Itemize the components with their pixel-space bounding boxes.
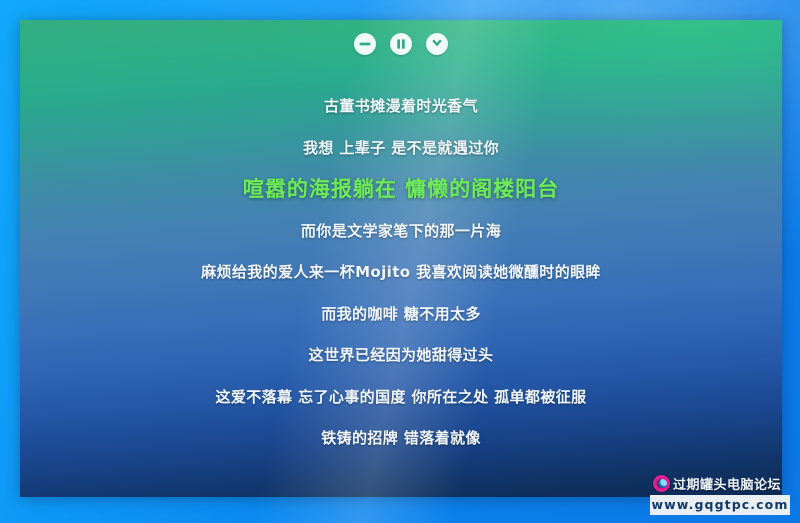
watermark-title-row: 过期罐头电脑论坛 — [650, 472, 790, 495]
lyrics-control-bar — [20, 33, 782, 55]
watermark-url: www.gqgtpc.com — [650, 495, 790, 515]
pause-icon — [390, 33, 412, 55]
lyric-line-active[interactable]: 喧嚣的海报躺在 慵懒的阁楼阳台 — [20, 169, 782, 211]
watermark: 过期罐头电脑论坛 www.gqgtpc.com — [650, 472, 790, 515]
minus-circle-icon — [354, 33, 376, 55]
pause-button[interactable] — [390, 33, 412, 55]
lyric-line[interactable]: 而你是文学家笔下的那一片海 — [20, 211, 782, 253]
desktop-lyrics-window[interactable]: 古董书摊漫着时光香气 我想 上辈子 是不是就遇过你 喧嚣的海报躺在 慵懒的阁楼阳… — [20, 20, 782, 497]
lyric-line[interactable]: 我想 上辈子 是不是就遇过你 — [20, 128, 782, 170]
collapse-button[interactable] — [426, 33, 448, 55]
desktop-screen: 古董书摊漫着时光香气 我想 上辈子 是不是就遇过你 喧嚣的海报躺在 慵懒的阁楼阳… — [0, 0, 800, 523]
lyric-line[interactable]: 铁铸的招牌 错落着就像 — [20, 418, 782, 460]
lyric-line[interactable]: 这世界已经因为她甜得过头 — [20, 335, 782, 377]
minimize-button[interactable] — [354, 33, 376, 55]
lyric-line[interactable]: 而我的咖啡 糖不用太多 — [20, 294, 782, 336]
watermark-title: 过期罐头电脑论坛 — [673, 474, 781, 493]
chevron-down-icon — [426, 33, 448, 55]
lyric-line[interactable]: 这爱不落幕 忘了心事的国度 你所在之处 孤单都被征服 — [20, 377, 782, 419]
lyric-line[interactable]: 古董书摊漫着时光香气 — [20, 86, 782, 128]
forum-logo-icon — [653, 475, 670, 492]
lyrics-list: 古董书摊漫着时光香气 我想 上辈子 是不是就遇过你 喧嚣的海报躺在 慵懒的阁楼阳… — [20, 86, 782, 460]
lyric-line[interactable]: 麻烦给我的爱人来一杯Mojito 我喜欢阅读她微醺时的眼眸 — [20, 252, 782, 294]
